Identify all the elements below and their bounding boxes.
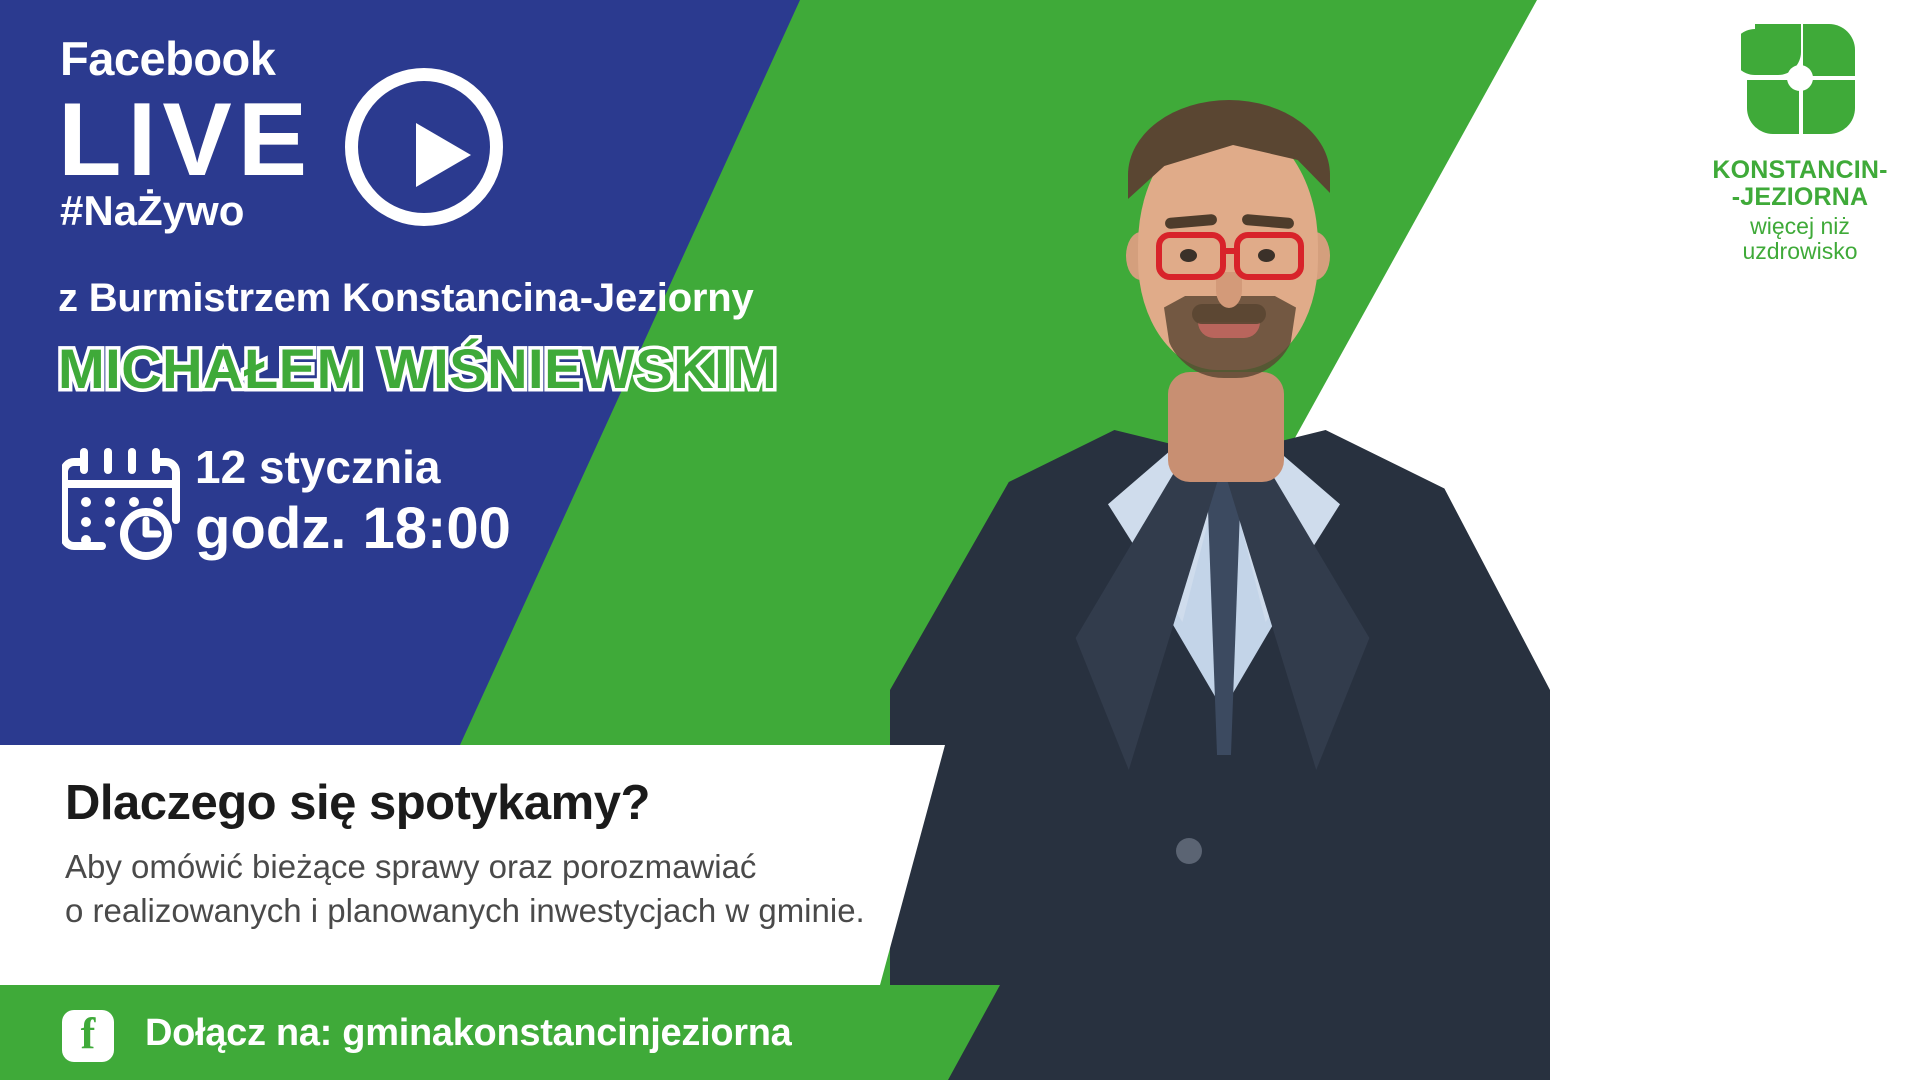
- calendar-clock-icon: [62, 448, 182, 560]
- logo-tagline: więcej niż uzdrowisko: [1700, 214, 1900, 265]
- portrait-glasses-left-lens: [1156, 232, 1226, 280]
- why-meeting-line-1: Aby omówić bieżące sprawy oraz porozmawi…: [65, 845, 865, 889]
- hashtag-nazywo: #NaŻywo: [60, 190, 244, 232]
- event-date: 12 stycznia: [195, 440, 440, 494]
- logo-watermark-name: KONSTANCIN- -JEZIORNA: [1786, 1061, 1916, 1080]
- why-meeting-line-2: o realizowanych i planowanych inwestycja…: [65, 889, 865, 933]
- clover-logo-icon: [1741, 22, 1859, 140]
- why-meeting-title: Dlaczego się spotykamy?: [65, 775, 650, 831]
- logo-name-line-2: -JEZIORNA: [1700, 184, 1900, 211]
- guest-intro: z Burmistrzem Konstancina-Jeziorny: [58, 276, 754, 321]
- join-link-text[interactable]: Dołącz na: gminakonstancinjeziorna: [145, 1012, 792, 1055]
- facebook-f-glyph: f: [62, 1008, 114, 1059]
- logo-watermark-name-line-2: -JEZIORNA: [1816, 1074, 1886, 1080]
- portrait-glasses-right-lens: [1234, 232, 1304, 280]
- logo-watermark-name-line-1: KONSTANCIN-: [1806, 1060, 1896, 1075]
- portrait-glasses-bridge: [1224, 248, 1238, 254]
- live-word: LIVE: [58, 88, 313, 192]
- event-time: godz. 18:00: [195, 495, 511, 562]
- portrait-neck: [1168, 372, 1284, 482]
- guest-name: MICHAŁEM WIŚNIEWSKIM: [58, 336, 777, 401]
- play-triangle-icon: [416, 123, 471, 187]
- why-meeting-body: Aby omówić bieżące sprawy oraz porozmawi…: [65, 845, 865, 932]
- portrait-mouth: [1198, 322, 1260, 338]
- facebook-label: Facebook: [60, 35, 275, 82]
- logo-tagline-line-2: uzdrowisko: [1700, 239, 1900, 264]
- logo-name: KONSTANCIN- -JEZIORNA: [1700, 157, 1900, 210]
- facebook-icon[interactable]: f: [62, 1010, 114, 1062]
- portrait-suit-button: [1176, 838, 1202, 864]
- logo-tagline-line-1: więcej niż: [1750, 213, 1850, 239]
- konstancin-logo: KONSTANCIN- -JEZIORNA więcej niż uzdrowi…: [1700, 22, 1900, 265]
- play-circle-icon: [345, 68, 503, 226]
- clover-logo-outline-icon: [1825, 1000, 1877, 1052]
- logo-name-line-1: KONSTANCIN-: [1712, 156, 1887, 184]
- poster-canvas: Facebook LIVE #NaŻywo z Burmistrzem Kons…: [0, 0, 1920, 1080]
- mayor-portrait-photo: [880, 0, 1580, 1080]
- konstancin-logo-watermark: KONSTANCIN- -JEZIORNA więcej niż uzdrowi…: [1786, 1000, 1916, 1080]
